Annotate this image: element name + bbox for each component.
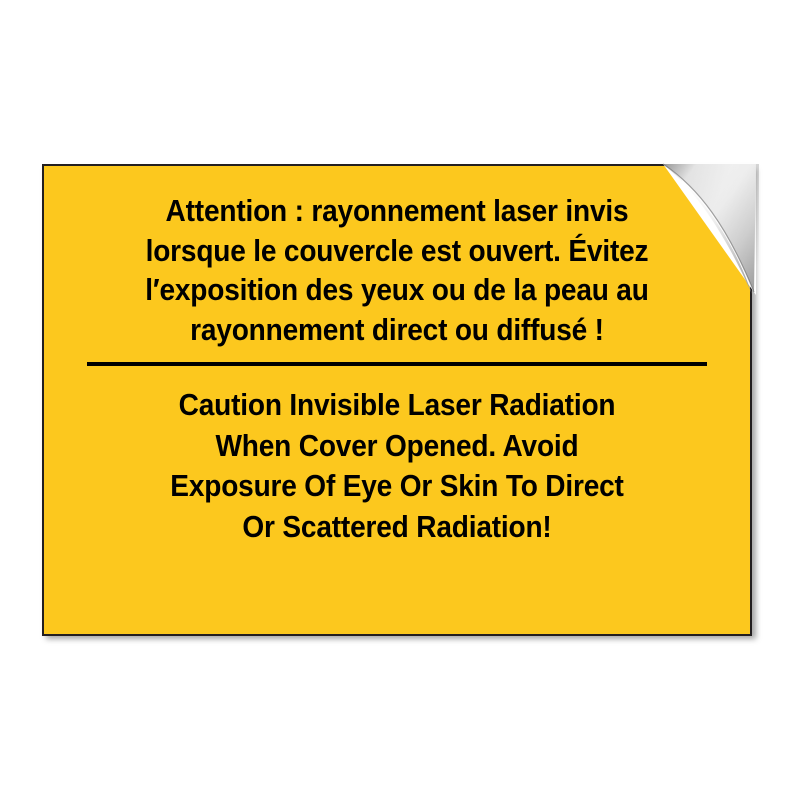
french-warning-text: Attention : rayonnement laser invis lors… <box>58 196 736 354</box>
label-content: Attention : rayonnement laser invis lors… <box>44 166 750 634</box>
french-line-1: Attention : rayonnement laser invis <box>85 196 709 227</box>
english-line-1: Caution Invisible Laser Radiation <box>85 390 709 421</box>
english-line-3: Exposure Of Eye Or Skin To Direct <box>85 471 709 502</box>
french-line-2: lorsque le couvercle est ouvert. Évitez <box>85 236 709 267</box>
english-line-2: When Cover Opened. Avoid <box>85 431 709 462</box>
french-line-4: rayonnement direct ou diffusé ! <box>85 315 709 346</box>
french-line-3: l′exposition des yeux ou de la peau au <box>85 275 709 306</box>
section-divider <box>87 362 707 366</box>
screenshot-canvas: Attention : rayonnement laser invis lors… <box>0 0 800 800</box>
english-line-4: Or Scattered Radiation! <box>85 512 709 543</box>
english-warning-text: Caution Invisible Laser Radiation When C… <box>58 390 736 552</box>
laser-warning-label: Attention : rayonnement laser invis lors… <box>42 164 752 636</box>
